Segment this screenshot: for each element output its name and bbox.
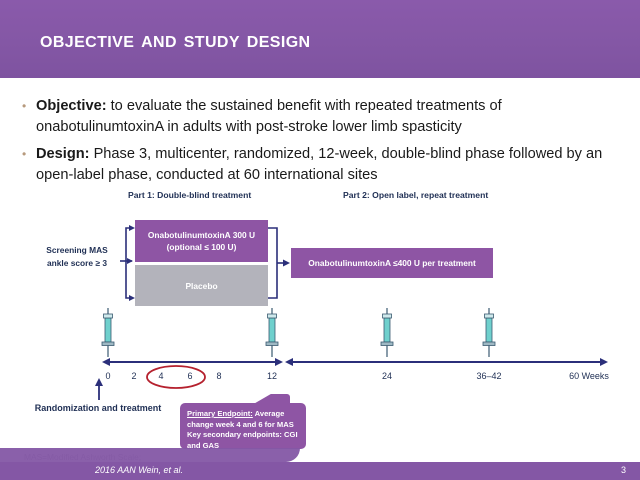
treatment-arm-active-box: OnabotulinumtoxinA 300 U (optional ≤ 100… (135, 220, 268, 262)
slide-header-band: Objective and Study Design (0, 0, 640, 78)
timeline-tick-8: 8 (216, 371, 221, 381)
callout-line2: change week 4 and 6 for MAS (187, 420, 294, 429)
callout-line3: Key secondary endpoints: CGI (187, 430, 298, 439)
timeline-tick-24: 24 (382, 371, 392, 381)
part-2-label: Part 2: Open label, repeat treatment (343, 190, 488, 200)
diagram-connectors (0, 186, 640, 456)
timeline-tick-6: 6 (187, 371, 192, 381)
page-title: Objective and Study Design (40, 26, 311, 53)
syringe-icon (102, 308, 495, 357)
bullet-body: Phase 3, multicenter, randomized, 12-wee… (36, 146, 602, 183)
screening-criteria-label: Screening MAS ankle score ≥ 3 (36, 244, 118, 269)
bullet-list: • Objective: to evaluate the sustained b… (0, 96, 640, 192)
timeline-tick-60-weeks: 60 Weeks (569, 371, 609, 381)
timeline-tick-36-42: 36–42 (476, 371, 501, 381)
bullet-marker-icon: • (22, 144, 36, 165)
bullet-text: Objective: to evaluate the sustained ben… (36, 96, 640, 138)
footer-bar: 2016 AAN Wein, et al. 3 (0, 462, 640, 480)
footer-citation: 2016 AAN Wein, et al. (95, 465, 183, 475)
timeline-tick-2: 2 (131, 371, 136, 381)
bullet-lead: Design: (36, 146, 90, 162)
bullet-text: Design: Phase 3, multicenter, randomized… (36, 144, 640, 186)
list-item: • Design: Phase 3, multicenter, randomiz… (0, 144, 640, 186)
footer-swoosh-decoration (0, 448, 300, 462)
bullet-marker-icon: • (22, 96, 36, 117)
part-1-label: Part 1: Double-blind treatment (128, 190, 251, 200)
study-design-diagram: Part 1: Double-blind treatment Part 2: O… (0, 186, 640, 456)
primary-endpoint-callout: Primary Endpoint: Average change week 4 … (180, 403, 306, 449)
bullet-body: to evaluate the sustained benefit with r… (36, 98, 502, 135)
randomization-label: Randomization and treatment (18, 402, 178, 415)
footer-page-number: 3 (621, 465, 626, 475)
treatment-arm-placebo-box: Placebo (135, 265, 268, 306)
timeline-tick-4: 4 (158, 371, 163, 381)
timeline-tick-12: 12 (267, 371, 277, 381)
open-label-treatment-box: OnabotulinumtoxinA ≤400 U per treatment (291, 248, 493, 278)
bullet-lead: Objective: (36, 98, 107, 114)
callout-line1-rest: Average (253, 409, 285, 418)
list-item: • Objective: to evaluate the sustained b… (0, 96, 640, 138)
timeline-tick-0: 0 (105, 371, 110, 381)
callout-endpoint-heading: Primary Endpoint: (187, 409, 253, 418)
